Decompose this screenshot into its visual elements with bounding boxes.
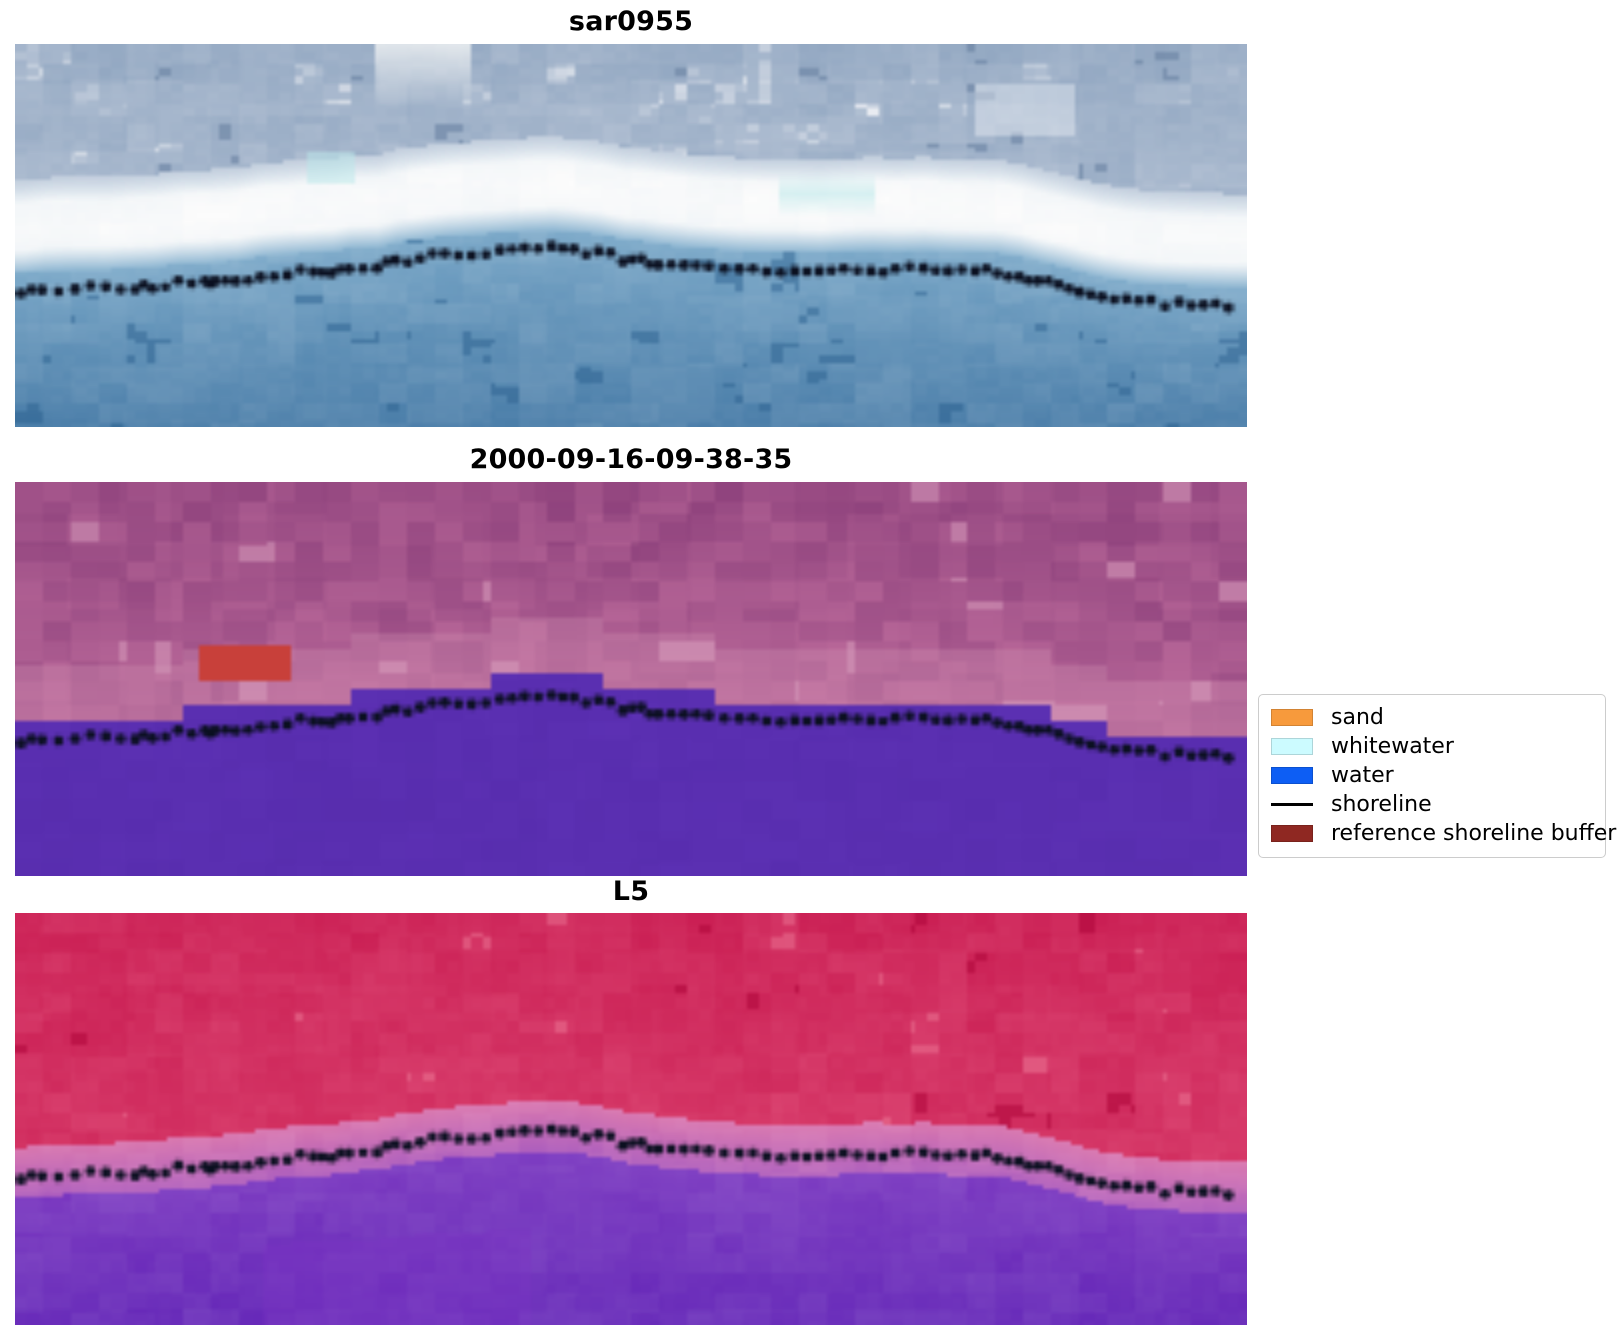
panel-title-classification: 2000-09-16-09-38-35	[15, 444, 1247, 475]
legend-item-whitewater: whitewater	[1271, 732, 1593, 761]
panel-image-classification	[15, 482, 1247, 876]
legend-item-reference-shoreline-buffer: reference shoreline buffer	[1271, 819, 1593, 848]
legend-item-shoreline: shoreline	[1271, 790, 1593, 819]
panel-image-l5	[15, 913, 1247, 1325]
water-swatch-icon	[1271, 767, 1313, 784]
legend-label-reference-shoreline-buffer: reference shoreline buffer	[1331, 823, 1616, 845]
whitewater-swatch-icon	[1271, 738, 1313, 755]
legend-item-water: water	[1271, 761, 1593, 790]
legend-label-sand: sand	[1331, 707, 1384, 729]
legend-label-shoreline: shoreline	[1331, 794, 1432, 816]
legend-item-sand: sand	[1271, 703, 1593, 732]
legend: sand whitewater water shoreline referenc…	[1258, 694, 1606, 858]
sand-swatch-icon	[1271, 709, 1313, 726]
panel-title-l5: L5	[15, 876, 1247, 907]
figure-root: sar0955 2000-09-16-09-38-35 L5 sand whit…	[0, 0, 1618, 1337]
panel-image-sar	[15, 44, 1247, 427]
panel-title-sar: sar0955	[15, 6, 1247, 37]
legend-label-water: water	[1331, 765, 1394, 787]
reference-shoreline-buffer-swatch-icon	[1271, 825, 1313, 842]
legend-label-whitewater: whitewater	[1331, 736, 1454, 758]
shoreline-line-icon	[1271, 796, 1313, 813]
